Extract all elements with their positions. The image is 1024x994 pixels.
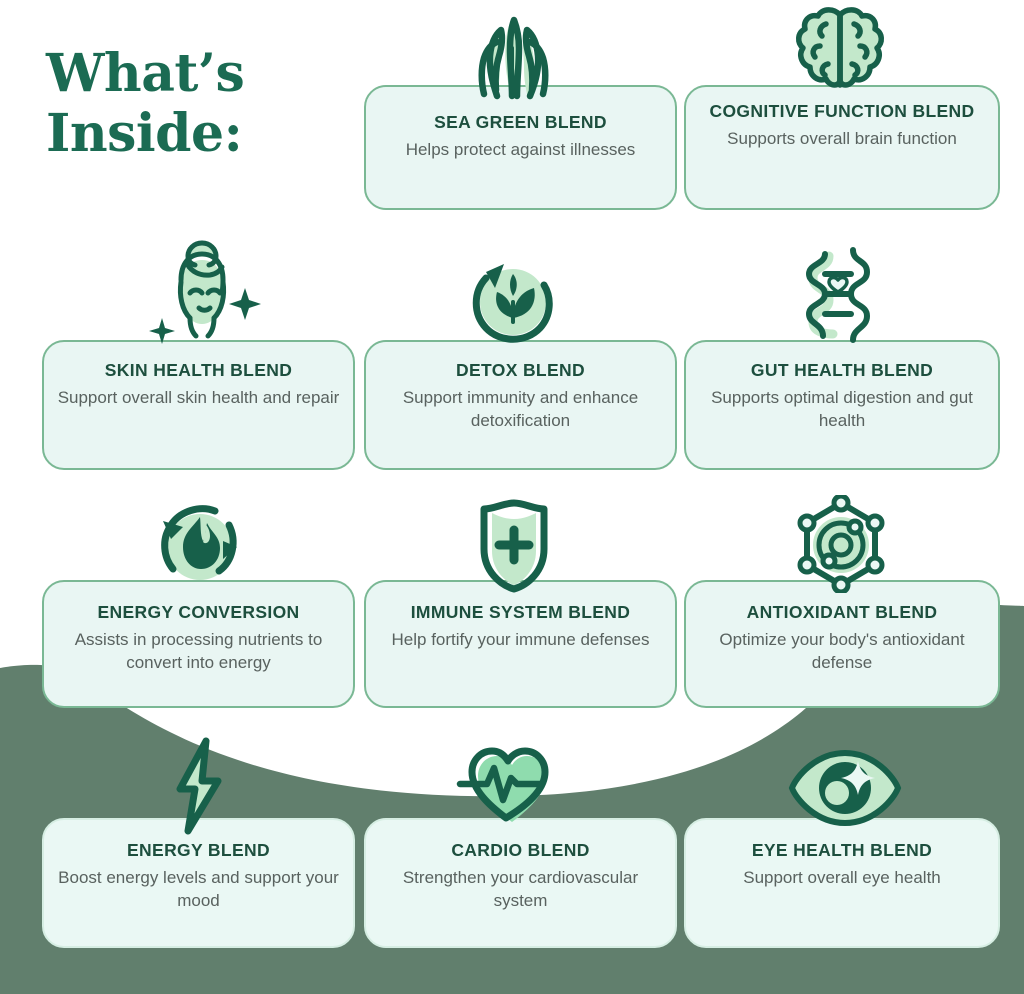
card-description: Supports overall brain function — [696, 127, 988, 150]
card-description: Strengthen your cardiovascular system — [376, 866, 665, 913]
card-sea-green-blend[interactable]: SEA GREEN BLEND Helps protect against il… — [364, 85, 677, 210]
page-title-line-2: Inside: — [46, 104, 346, 164]
card-description: Support immunity and enhance detoxificat… — [376, 386, 665, 433]
card-description: Support overall skin health and repair — [54, 386, 343, 409]
card-description: Boost energy levels and support your moo… — [54, 866, 343, 913]
card-cardio-blend[interactable]: CARDIO BLEND Strengthen your cardiovascu… — [364, 818, 677, 948]
card-description: Helps protect against illnesses — [376, 138, 665, 161]
infographic-canvas: What’s Inside: SEA GREEN BLEND Hel — [0, 0, 1024, 994]
card-energy-blend[interactable]: ENERGY BLEND Boost energy levels and sup… — [42, 818, 355, 948]
card-title: ENERGY BLEND — [54, 840, 343, 861]
card-description: Optimize your body's antioxidant defense — [696, 628, 988, 675]
card-gut-health-blend[interactable]: GUT HEALTH BLEND Supports optimal digest… — [684, 340, 1000, 470]
card-title: DETOX BLEND — [376, 360, 665, 381]
card-description: Support overall eye health — [696, 866, 988, 889]
card-immune-system-blend[interactable]: IMMUNE SYSTEM BLEND Help fortify your im… — [364, 580, 677, 708]
card-eye-health-blend[interactable]: EYE HEALTH BLEND Support overall eye hea… — [684, 818, 1000, 948]
card-antioxidant-blend[interactable]: ANTIOXIDANT BLEND Optimize your body's a… — [684, 580, 1000, 708]
card-title: ENERGY CONVERSION — [54, 602, 343, 623]
card-title: SEA GREEN BLEND — [376, 112, 665, 133]
card-energy-conversion[interactable]: ENERGY CONVERSION Assists in processing … — [42, 580, 355, 708]
card-description: Help fortify your immune defenses — [376, 628, 665, 651]
card-description: Assists in processing nutrients to conve… — [54, 628, 343, 675]
card-title: SKIN HEALTH BLEND — [54, 360, 343, 381]
card-title: CARDIO BLEND — [376, 840, 665, 861]
card-title: COGNITIVE FUNCTION BLEND — [696, 101, 988, 122]
page-title-line-1: What’s — [46, 44, 346, 104]
card-title: IMMUNE SYSTEM BLEND — [376, 602, 665, 623]
page-title: What’s Inside: — [46, 44, 346, 165]
card-detox-blend[interactable]: DETOX BLEND Support immunity and enhance… — [364, 340, 677, 470]
card-title: ANTIOXIDANT BLEND — [696, 602, 988, 623]
card-skin-health-blend[interactable]: SKIN HEALTH BLEND Support overall skin h… — [42, 340, 355, 470]
card-title: GUT HEALTH BLEND — [696, 360, 988, 381]
card-description: Supports optimal digestion and gut healt… — [696, 386, 988, 433]
card-title: EYE HEALTH BLEND — [696, 840, 988, 861]
card-cognitive-function-blend[interactable]: COGNITIVE FUNCTION BLEND Supports overal… — [684, 85, 1000, 210]
